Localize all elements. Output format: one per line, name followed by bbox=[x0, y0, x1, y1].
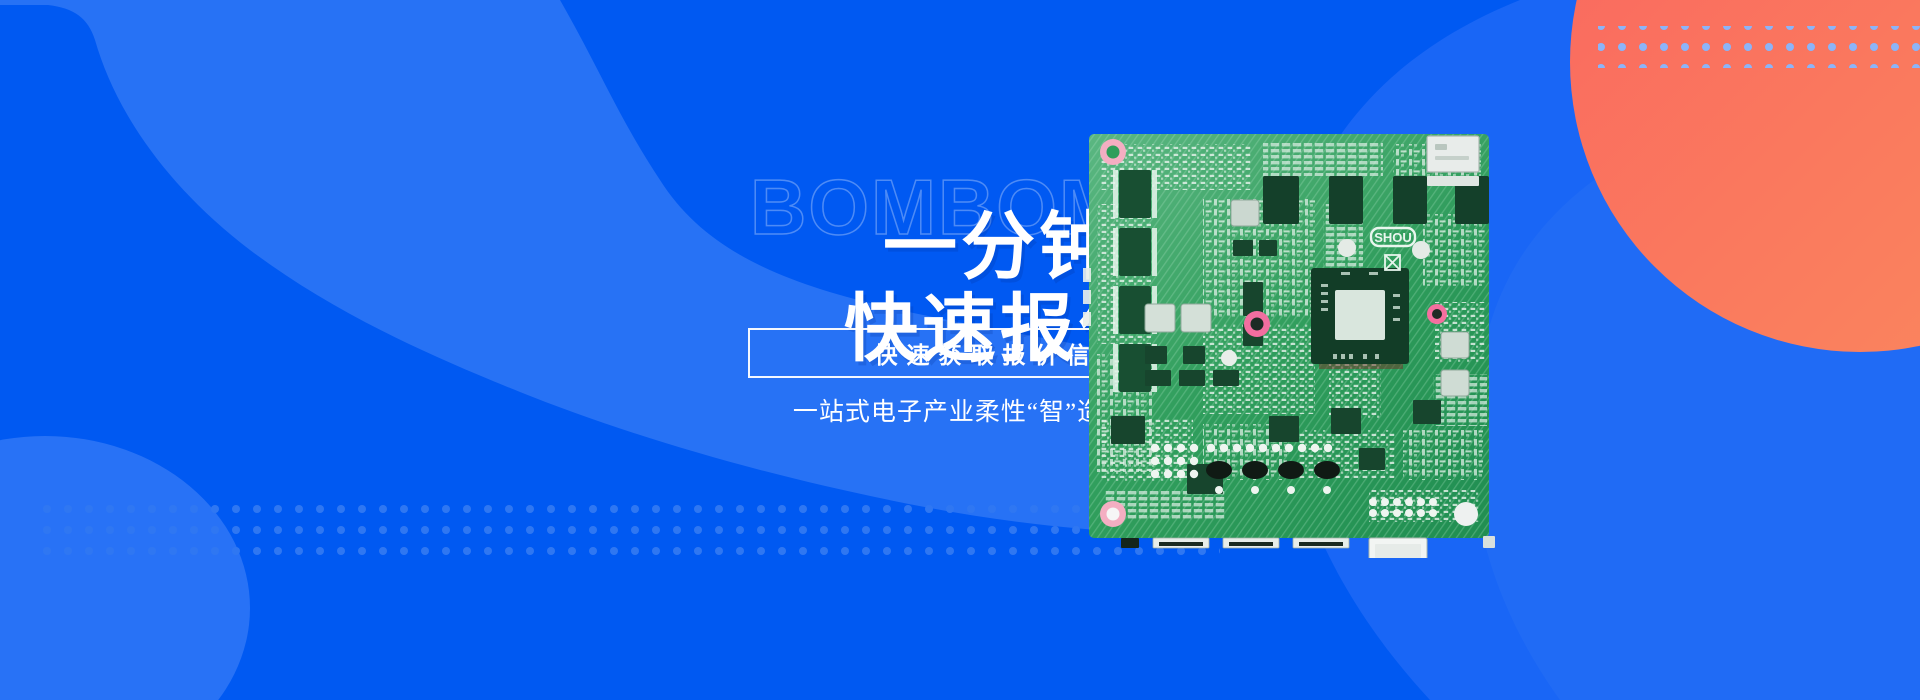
pcb-left-edge-tabs bbox=[1083, 268, 1091, 326]
pcb-shield-can bbox=[1427, 136, 1479, 186]
dot-field-top-right-over-coral bbox=[1598, 26, 1920, 68]
pcb-main-soc bbox=[1311, 268, 1409, 369]
pcb-edge-connectors bbox=[1121, 536, 1495, 558]
promo-banner: SHOU bbox=[0, 0, 1920, 700]
pcb-board-image: SHOU bbox=[1083, 118, 1503, 558]
pcb-silkscreen-label: SHOU bbox=[1371, 228, 1415, 246]
pcb-label-text: SHOU bbox=[1374, 230, 1412, 245]
